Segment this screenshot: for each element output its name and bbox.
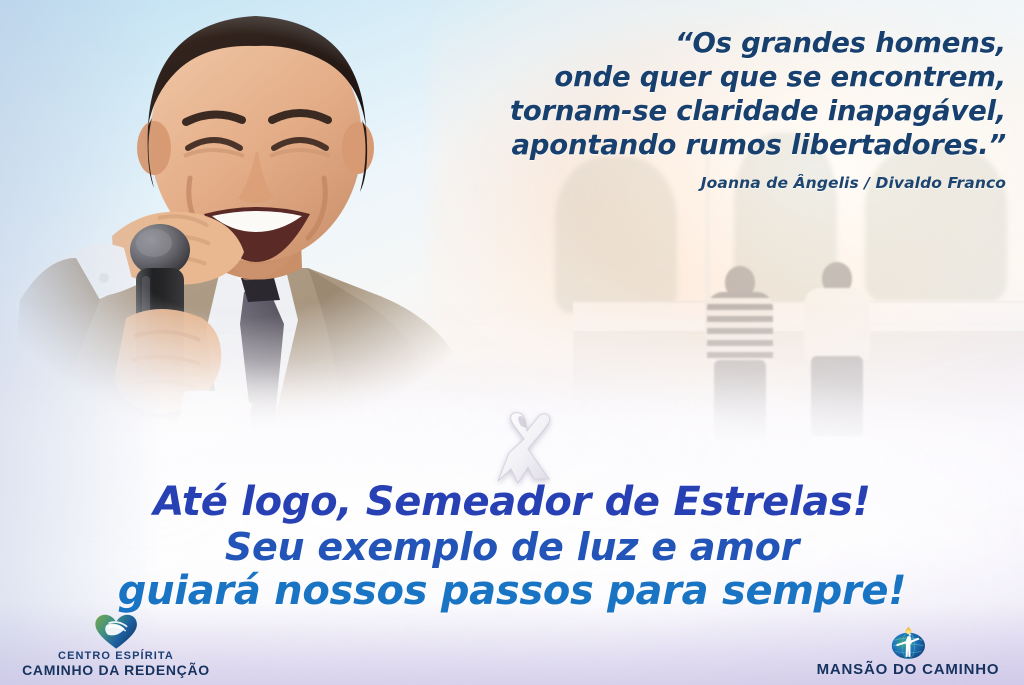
globe-figure-torch-icon	[798, 625, 1018, 661]
logo-left-text-main: CAMINHO DA REDENÇÃO	[6, 662, 226, 679]
logo-right-text-main: MANSÃO DO CAMINHO	[798, 661, 1018, 679]
message-line-1: Até logo, Semeador de Estrelas!	[0, 482, 1024, 524]
quote-line-3: tornam-se claridade inapagável,	[446, 94, 1006, 128]
logo-left-text-top: CENTRO ESPÍRITA	[6, 650, 226, 663]
message-line-2: Seu exemplo de luz e amor	[0, 528, 1024, 568]
quote-line-1: “Os grandes homens,	[446, 26, 1006, 60]
quote-attribution: Joanna de Ângelis / Divaldo Franco	[446, 174, 1006, 192]
white-awareness-ribbon-icon	[487, 409, 561, 487]
logo-centro-espirita-caminho-da-redencao: CENTRO ESPÍRITA CAMINHO DA REDENÇÃO	[6, 614, 226, 679]
quote-block: “Os grandes homens, onde quer que se enc…	[446, 26, 1006, 192]
logo-mansao-do-caminho: MANSÃO DO CAMINHO	[798, 625, 1018, 679]
message-line-3: guiará nossos passos para sempre!	[0, 571, 1024, 613]
quote-line-2: onde quer que se encontrem,	[446, 60, 1006, 94]
heart-hands-icon	[6, 614, 226, 650]
quote-line-4: apontando rumos libertadores.”	[446, 128, 1006, 162]
memorial-poster: “Os grandes homens, onde quer que se enc…	[0, 0, 1024, 685]
farewell-message-block: Até logo, Semeador de Estrelas! Seu exem…	[0, 482, 1024, 613]
